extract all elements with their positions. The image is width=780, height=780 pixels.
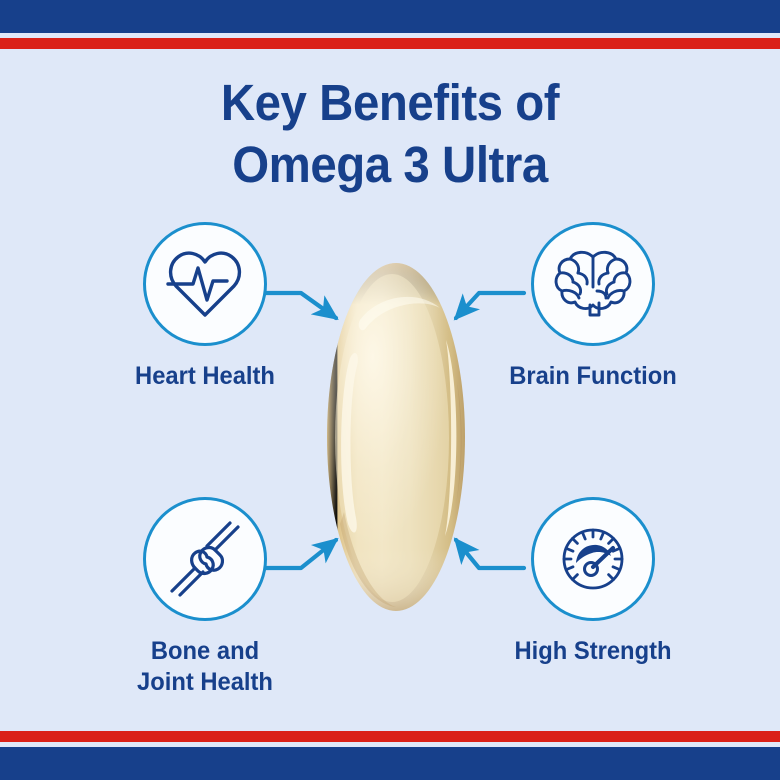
page-title-line-2: Omega 3 Ultra <box>27 134 752 196</box>
omega-3-softgel-capsule <box>326 262 466 612</box>
bottom-red-band <box>0 731 780 742</box>
benefit-label-high-strength: High Strength <box>503 636 684 667</box>
benefit-bone-joint-health[interactable]: Bone and Joint Health <box>110 497 300 698</box>
benefit-icon-circle-heart[interactable] <box>143 222 267 346</box>
top-red-band <box>0 38 780 49</box>
brain-icon <box>553 247 633 321</box>
benefit-heart-health[interactable]: Heart Health <box>110 222 300 392</box>
benefit-icon-circle-brain[interactable] <box>531 222 655 346</box>
benefit-high-strength[interactable]: High Strength <box>498 497 688 667</box>
heart-pulse-icon <box>166 248 244 320</box>
benefit-brain-function[interactable]: Brain Function <box>498 222 688 392</box>
benefit-label-bone-joint-health: Bone and Joint Health <box>115 636 296 698</box>
benefit-icon-circle-bone-joint[interactable] <box>143 497 267 621</box>
page-title-line-1: Key Benefits of <box>27 72 752 134</box>
top-blue-band <box>0 0 780 33</box>
speedometer-icon <box>553 519 633 599</box>
page-title: Key Benefits of Omega 3 Ultra <box>27 72 752 196</box>
infographic-canvas: Key Benefits of Omega 3 Ultra <box>0 0 780 780</box>
bottom-blue-band <box>0 747 780 780</box>
benefit-icon-circle-high-strength[interactable] <box>531 497 655 621</box>
bone-joint-icon <box>166 520 244 598</box>
benefit-label-brain-function: Brain Function <box>503 361 684 392</box>
benefit-label-heart-health: Heart Health <box>115 361 296 392</box>
